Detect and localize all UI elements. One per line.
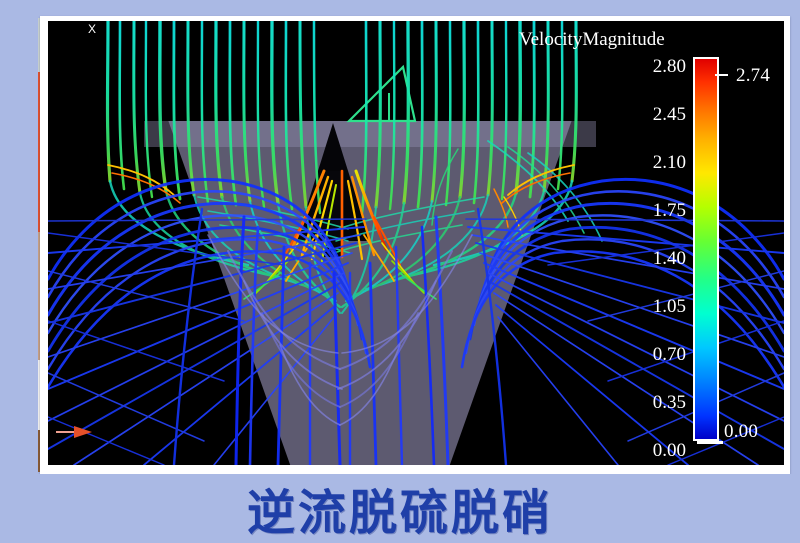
colorbar-tick-label: 2.10: [653, 153, 686, 172]
colorbar-tick-label: 0.00: [653, 441, 686, 460]
colorbar[interactable]: [693, 57, 721, 443]
axis-x-label: X: [88, 22, 96, 36]
colorbar-tick-label: 1.40: [653, 249, 686, 268]
colorbar-min-tick: [697, 441, 723, 444]
colorbar-tick-labels: 2.802.452.101.751.401.050.700.350.00: [604, 53, 686, 445]
cfd-render-viewport[interactable]: VelocityMagnitude 2.802.452.101.751.401.…: [48, 21, 784, 465]
colorbar-min-value: 0.00: [724, 421, 758, 443]
colorbar-tick-label: 2.80: [653, 57, 686, 76]
screenshot-root: VelocityMagnitude 2.802.452.101.751.401.…: [0, 0, 800, 542]
colorbar-tick-label: 1.05: [653, 297, 686, 316]
legend-title: VelocityMagnitude: [519, 29, 665, 51]
colorbar-gradient: [693, 57, 719, 441]
caption-text: 逆流脱硫脱硝: [247, 473, 553, 543]
colorbar-tick-label: 1.75: [653, 201, 686, 220]
colorbar-tick-label: 0.70: [653, 345, 686, 364]
colorbar-tick-label: 0.35: [653, 393, 686, 412]
caption-bar: 逆流脱硫脱硝: [0, 474, 800, 542]
colorbar-tick-label: 2.45: [653, 105, 686, 124]
axis-orientation-indicator: [54, 419, 124, 445]
colorbar-max-tick: [715, 74, 728, 76]
colorbar-max-value: 2.74: [736, 65, 770, 87]
